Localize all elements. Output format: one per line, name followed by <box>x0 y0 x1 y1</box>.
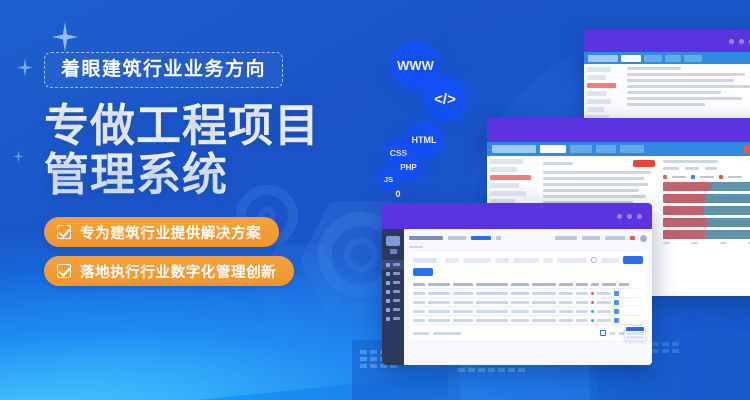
cell <box>453 310 473 313</box>
list-item[interactable] <box>543 189 639 192</box>
toolbar-item-active[interactable] <box>471 236 491 240</box>
window-front[interactable] <box>382 203 652 365</box>
header-tab-1[interactable] <box>540 145 566 153</box>
table-row[interactable] <box>413 298 643 307</box>
panel-title <box>663 160 718 163</box>
bubble-code: </> <box>424 78 466 120</box>
header-tab-4[interactable] <box>620 145 644 153</box>
checkbox-checked-icon <box>57 264 71 278</box>
window-content <box>382 229 652 365</box>
search-icon[interactable] <box>591 257 597 263</box>
toolbar-item[interactable] <box>582 236 600 240</box>
list-item[interactable] <box>543 195 646 198</box>
content-line <box>627 85 750 88</box>
cell <box>559 310 573 313</box>
list-item[interactable] <box>543 171 651 174</box>
subtitle-box: 着眼建筑行业业务方向 <box>44 52 283 88</box>
stacked-bar-chart <box>663 175 750 244</box>
chart-x-tick <box>720 242 727 244</box>
feature-pill-1-label: 专为建筑行业提供解决方案 <box>80 222 261 243</box>
content-line <box>627 103 705 106</box>
header-tab-3[interactable] <box>665 55 681 62</box>
header-tab-4[interactable] <box>684 55 702 62</box>
headline-line-1: 专做工程项目 <box>44 100 320 151</box>
nav-item-active[interactable] <box>587 83 616 88</box>
pagination-next[interactable] <box>610 332 615 335</box>
bubble-zero: 0 <box>390 186 406 202</box>
feature-pill-2[interactable]: 落地执行行业数字化管理创新 <box>44 256 294 286</box>
sidebar-icon <box>386 299 390 303</box>
filter-label <box>445 258 459 263</box>
cell <box>511 301 529 304</box>
chart-bar-row <box>663 230 750 239</box>
bubble-code-label: </> <box>434 91 456 108</box>
cell <box>453 301 473 304</box>
cell <box>511 319 529 322</box>
content-line <box>627 79 734 82</box>
chart-panel <box>659 156 750 296</box>
chart-bar-row <box>663 194 750 203</box>
list-item[interactable] <box>543 177 644 180</box>
nav-item[interactable] <box>490 183 519 188</box>
nav-item[interactable] <box>587 107 604 112</box>
cell <box>576 301 588 304</box>
row-action-icon[interactable] <box>614 318 619 323</box>
sidebar-item-6[interactable] <box>382 305 404 314</box>
window-control-dot-2[interactable] <box>627 214 632 219</box>
chevron-down-icon[interactable] <box>496 236 501 240</box>
filter-select[interactable] <box>463 258 491 263</box>
field-label <box>663 167 679 170</box>
avatar[interactable] <box>640 235 647 242</box>
sidebar-item-4[interactable] <box>382 287 404 296</box>
nav-item[interactable] <box>587 99 611 104</box>
sidebar-item-label <box>393 272 400 275</box>
cell <box>532 301 556 304</box>
bubble-js-label: JS <box>384 175 393 184</box>
notification-icon[interactable] <box>630 236 635 240</box>
app-logo-sub <box>390 249 397 254</box>
nav-item[interactable] <box>490 159 523 164</box>
feature-pill-1[interactable]: 专为建筑行业提供解决方案 <box>44 217 279 247</box>
breadcrumb <box>409 236 443 240</box>
sidebar-icon <box>386 263 390 267</box>
content-line <box>627 91 721 94</box>
search-input[interactable] <box>557 258 587 263</box>
pagination-page-1[interactable] <box>600 330 606 336</box>
cell <box>428 292 450 295</box>
row-checkbox[interactable] <box>413 319 425 322</box>
add-button[interactable] <box>413 268 433 276</box>
sidebar <box>382 229 404 365</box>
cell <box>476 319 508 322</box>
promo-banner: WWW </> HTML CSS PHP JS 0 <box>0 0 750 400</box>
row-action-icon[interactable] <box>614 291 619 296</box>
sidebar-item-label <box>393 308 400 311</box>
window-control-dot-3[interactable] <box>637 214 642 219</box>
cell <box>453 292 473 295</box>
cell <box>576 310 588 313</box>
chart-legend <box>663 175 750 179</box>
app-header <box>584 52 750 64</box>
table-row[interactable] <box>413 316 643 325</box>
chart-x-tick <box>691 242 698 244</box>
cell <box>576 292 588 295</box>
sidebar-icon <box>386 281 390 285</box>
chart-bar-row <box>663 182 750 191</box>
cell <box>597 310 611 313</box>
window-control-dot-1[interactable] <box>729 39 734 44</box>
status-badge <box>591 310 594 313</box>
cell <box>597 319 611 322</box>
nav-item[interactable] <box>587 75 606 80</box>
sparkle-icon-1 <box>52 22 78 52</box>
nav-item[interactable] <box>587 67 611 72</box>
column-header <box>559 283 573 286</box>
cell <box>428 301 450 304</box>
feature-pill-list: 专为建筑行业提供解决方案 落地执行行业数字化管理创新 <box>44 217 374 286</box>
bubble-zero-label: 0 <box>395 189 400 199</box>
chart-bar-row <box>663 218 750 227</box>
cell <box>597 292 611 295</box>
sparkle-icon-2 <box>17 58 33 77</box>
filter-select[interactable] <box>513 258 539 263</box>
content-line <box>627 97 742 100</box>
column-header <box>428 283 450 286</box>
table-row[interactable] <box>413 307 643 316</box>
pagination-summary <box>413 332 429 335</box>
bubble-html: HTML <box>407 123 441 157</box>
list-title <box>543 162 573 165</box>
row-checkbox[interactable] <box>413 292 425 295</box>
cell <box>532 310 556 313</box>
nav-item[interactable] <box>587 91 607 96</box>
sidebar-icon <box>386 308 390 312</box>
sidebar-item-label <box>393 299 400 302</box>
field-label <box>705 167 717 170</box>
chart-x-tick <box>663 242 670 244</box>
filter-bar <box>413 256 643 264</box>
sidebar-item-label <box>393 263 400 266</box>
column-header <box>576 283 588 286</box>
status-badge <box>591 319 594 322</box>
table-row[interactable] <box>413 289 643 298</box>
cell <box>428 310 450 313</box>
window-titlebar[interactable] <box>382 203 652 229</box>
app-logo-icon <box>386 236 400 246</box>
row-action-icon[interactable] <box>614 309 619 314</box>
header-tab-2[interactable] <box>570 145 592 153</box>
checkbox-checked-icon <box>57 225 71 239</box>
app-header <box>487 142 750 156</box>
content-line <box>627 67 681 70</box>
status-badge <box>591 292 594 295</box>
column-header <box>591 283 599 286</box>
bubble-www-label: WWW <box>397 58 434 73</box>
cell <box>476 301 508 304</box>
column-header <box>532 283 556 286</box>
cell <box>597 301 611 304</box>
status-badge <box>591 301 594 304</box>
header-notification-icon[interactable] <box>744 145 750 153</box>
row-checkbox[interactable] <box>413 310 425 313</box>
sidebar-item-3[interactable] <box>382 278 404 287</box>
filter-label <box>495 258 509 263</box>
column-header <box>619 283 629 286</box>
cell <box>532 319 556 322</box>
sidebar-item-label <box>393 290 400 293</box>
column-header <box>511 283 529 286</box>
sidebar-icon <box>386 317 390 321</box>
window-titlebar[interactable] <box>584 30 750 52</box>
filter-link[interactable] <box>601 258 619 263</box>
toolbar-item[interactable] <box>555 236 577 240</box>
cell <box>476 292 508 295</box>
nav-item[interactable] <box>490 191 526 196</box>
cell <box>532 292 556 295</box>
header-logo <box>588 55 618 62</box>
tab-underline <box>409 246 423 248</box>
table-header-row <box>413 280 643 289</box>
cell <box>511 292 529 295</box>
sidebar-item-2[interactable] <box>382 269 404 278</box>
content-card <box>409 252 647 340</box>
bubble-php: PHP <box>396 155 421 180</box>
header-tab-1[interactable] <box>621 55 641 62</box>
feature-pill-2-label: 落地执行行业数字化管理创新 <box>80 261 276 282</box>
sidebar-item-5[interactable] <box>382 296 404 305</box>
sidebar-icon <box>386 290 390 294</box>
bubble-html-label: HTML <box>412 135 437 145</box>
sidebar-item-1[interactable] <box>382 260 404 269</box>
column-header <box>453 283 473 286</box>
column-header <box>413 283 425 286</box>
context-menu-item-1[interactable] <box>626 327 644 331</box>
context-menu-item-2[interactable] <box>626 332 644 335</box>
sidebar-item-label <box>393 281 400 284</box>
list-item[interactable] <box>543 183 648 186</box>
cell <box>511 310 529 313</box>
header-logo <box>492 145 536 153</box>
row-checkbox[interactable] <box>413 301 425 304</box>
cell <box>428 319 450 322</box>
filter-label <box>543 258 553 263</box>
chart-bar-row <box>663 206 750 215</box>
sparkle-icon-3 <box>13 150 24 163</box>
header-tab-2[interactable] <box>644 55 662 62</box>
column-header <box>476 283 508 286</box>
bubble-php-label: PHP <box>400 163 416 172</box>
headline-block: 着眼建筑行业业务方向 专做工程项目 管理系统 专为建筑行业提供解决方案 落地执行… <box>44 52 374 295</box>
filter-label <box>413 258 437 263</box>
pagination-summary <box>433 332 461 335</box>
window-control-dot-1[interactable] <box>617 214 622 219</box>
context-menu[interactable] <box>624 325 646 341</box>
sidebar-item-7[interactable] <box>382 314 404 323</box>
primary-button[interactable] <box>633 160 655 167</box>
nav-item-active[interactable] <box>490 175 531 180</box>
nav-item[interactable] <box>490 167 517 172</box>
headline-line-2: 管理系统 <box>44 151 374 200</box>
row-action-icon[interactable] <box>614 300 619 305</box>
cell <box>476 310 508 313</box>
subtitle-text: 着眼建筑行业业务方向 <box>61 60 266 79</box>
cell <box>576 319 588 322</box>
query-button[interactable] <box>623 256 643 264</box>
toolbar-item[interactable] <box>448 236 466 240</box>
context-menu-item-3[interactable] <box>626 336 644 339</box>
main-panel <box>404 229 652 365</box>
content-line <box>627 73 745 76</box>
window-control-dot-2[interactable] <box>739 39 744 44</box>
sidebar-item-label <box>393 317 400 320</box>
cell <box>559 319 573 322</box>
cell <box>559 301 573 304</box>
header-tab-3[interactable] <box>596 145 616 153</box>
cell <box>559 292 573 295</box>
field-label <box>685 167 699 170</box>
column-header <box>602 283 616 286</box>
top-toolbar <box>409 233 647 243</box>
page-title: 专做工程项目 管理系统 <box>44 102 374 199</box>
cell <box>453 319 473 322</box>
toolbar-item[interactable] <box>605 236 625 240</box>
sidebar-icon <box>386 272 390 276</box>
window-titlebar[interactable] <box>487 118 750 142</box>
